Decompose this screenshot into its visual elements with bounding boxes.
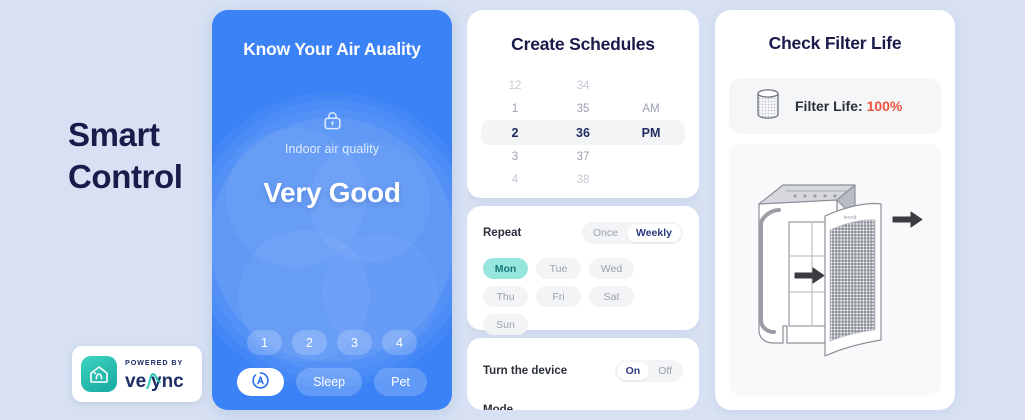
page-title-line-1: Smart: [68, 114, 218, 156]
weekday-selector: Mon Tue Wed Thu Fri Sat Sun: [467, 244, 699, 335]
hour-option[interactable]: 12: [481, 80, 549, 92]
device-power-on[interactable]: On: [617, 362, 650, 380]
fan-speed-3[interactable]: 3: [337, 330, 372, 355]
meridiem-option-selected[interactable]: PM: [617, 126, 685, 140]
svg-text:ve: ve: [125, 371, 146, 391]
filter-card-title: Check Filter Life: [715, 10, 955, 54]
minute-option[interactable]: 38: [549, 174, 617, 186]
time-picker[interactable]: 12 34 1 35 AM 2 36 PM 3 37: [467, 74, 699, 191]
filter-life-status: Filter Life: 100%: [729, 78, 941, 134]
mode-selector: Sleep Pet: [212, 368, 452, 396]
fan-speed-2[interactable]: 2: [292, 330, 327, 355]
time-picker-panel: Create Schedules 12 34 1 35 AM 2 36 PM: [467, 10, 699, 198]
minute-option-selected[interactable]: 36: [549, 126, 617, 140]
filter-life-value: 100%: [867, 98, 903, 114]
time-picker-row[interactable]: 1 35 AM: [481, 97, 685, 120]
turn-device-label: Turn the device: [483, 365, 567, 377]
air-quality-value: Very Good: [212, 177, 452, 209]
hero-section: Smart Control POWERED BY ve ync: [0, 0, 212, 420]
hour-option[interactable]: 1: [481, 103, 549, 115]
time-picker-row-selected[interactable]: 2 36 PM: [481, 120, 685, 145]
repeat-option-weekly[interactable]: Weekly: [627, 224, 681, 242]
repeat-option-once[interactable]: Once: [584, 224, 627, 242]
weekday-mon[interactable]: Mon: [483, 258, 528, 279]
vesync-badge: POWERED BY ve ync: [72, 346, 202, 402]
schedule-card-title: Create Schedules: [467, 10, 699, 55]
filter-life-label: Filter Life:: [795, 98, 863, 114]
device-power-off[interactable]: Off: [649, 362, 681, 380]
vesync-wordmark: ve ync: [125, 369, 203, 391]
page-root: Smart Control POWERED BY ve ync: [0, 0, 1025, 420]
page-title: Smart Control: [68, 114, 218, 198]
house-wave-icon: [81, 356, 117, 392]
check-filter-life-card: Check Filter Life Filter Life: 100%: [715, 10, 955, 410]
weekday-fri[interactable]: Fri: [536, 286, 581, 307]
weekday-thu[interactable]: Thu: [483, 286, 528, 307]
repeat-segmented-control: Once Weekly: [582, 222, 683, 244]
mode-row-label: Mode: [467, 382, 699, 410]
create-schedules-card: Create Schedules 12 34 1 35 AM 2 36 PM: [467, 10, 699, 410]
air-quality-card: Know Your Air Auality Indoor air quality…: [212, 10, 452, 410]
minute-option[interactable]: 34: [549, 80, 617, 92]
svg-text:ync: ync: [151, 371, 184, 391]
filter-cartridge-icon: [755, 88, 781, 125]
air-quality-readout: Indoor air quality Very Good: [212, 110, 452, 209]
repeat-label: Repeat: [483, 227, 521, 239]
device-settings-panel: Turn the device On Off Mode: [467, 338, 699, 410]
minute-option[interactable]: 35: [549, 103, 617, 115]
time-picker-row[interactable]: 4 38: [481, 168, 685, 191]
mode-auto-button[interactable]: [237, 368, 284, 396]
weekday-sun[interactable]: Sun: [483, 314, 528, 335]
page-title-line-2: Control: [68, 156, 218, 198]
device-power-segmented-control: On Off: [615, 360, 683, 382]
auto-mode-icon: [251, 371, 270, 393]
lock-icon: [212, 110, 452, 136]
turn-device-row: Turn the device On Off: [467, 338, 699, 382]
meridiem-option[interactable]: AM: [617, 103, 685, 115]
badge-text: POWERED BY ve ync: [125, 358, 203, 391]
filter-replacement-illustration: levoit: [729, 144, 941, 396]
time-picker-row[interactable]: 3 37: [481, 145, 685, 168]
air-card-title: Know Your Air Auality: [212, 39, 452, 60]
badge-powered-by: POWERED BY: [125, 358, 203, 367]
hour-option-selected[interactable]: 2: [481, 126, 549, 140]
air-quality-subtitle: Indoor air quality: [212, 142, 452, 156]
mode-pet-button[interactable]: Pet: [374, 368, 427, 396]
repeat-header: Repeat Once Weekly: [467, 206, 699, 244]
weekday-wed[interactable]: Wed: [589, 258, 634, 279]
mode-sleep-button[interactable]: Sleep: [296, 368, 362, 396]
svg-text:levoit: levoit: [844, 215, 857, 221]
weekday-tue[interactable]: Tue: [536, 258, 581, 279]
minute-option[interactable]: 37: [549, 151, 617, 163]
weekday-sat[interactable]: Sat: [589, 286, 634, 307]
hour-option[interactable]: 4: [481, 174, 549, 186]
fan-speed-1[interactable]: 1: [247, 330, 282, 355]
filter-life-text: Filter Life: 100%: [795, 98, 902, 114]
repeat-panel: Repeat Once Weekly Mon Tue Wed Thu Fri S…: [467, 206, 699, 330]
fan-speed-4[interactable]: 4: [382, 330, 417, 355]
hour-option[interactable]: 3: [481, 151, 549, 163]
fan-speed-selector: 1 2 3 4: [212, 330, 452, 355]
time-picker-row[interactable]: 12 34: [481, 74, 685, 97]
